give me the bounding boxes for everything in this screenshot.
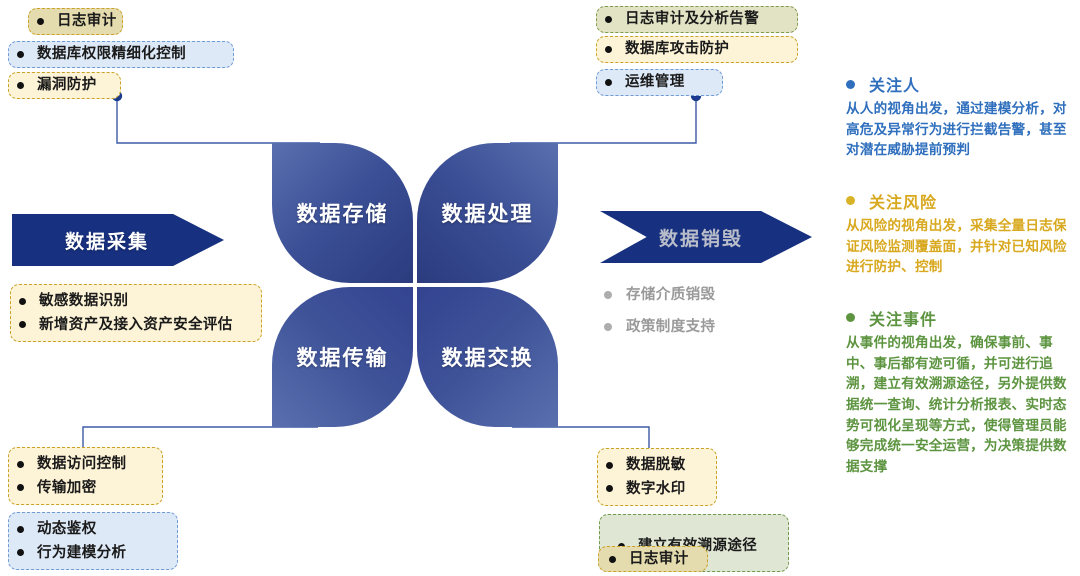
info-block-event: 关注事件 从事件的视角出发，确保事前、事中、事后都有迹可循，并可进行追溯，建立有…	[846, 306, 1072, 478]
callout-top-left-2[interactable]: 数据库权限精细化控制	[8, 41, 234, 68]
bullet-icon	[17, 549, 24, 556]
bullet-icon	[17, 526, 24, 533]
info-header: 关注风险	[846, 189, 1072, 213]
list-item: 日志审计及分析告警	[605, 12, 787, 27]
bullet-icon	[17, 51, 24, 58]
list-item: 数据库攻击防护	[605, 42, 787, 57]
bullet-icon	[37, 18, 44, 25]
petal-label: 数据处理	[442, 198, 534, 228]
bullet-icon	[606, 462, 613, 469]
callout-top-right-3[interactable]: 运维管理	[596, 69, 723, 96]
callout-top-right-1[interactable]: 日志审计及分析告警	[596, 6, 798, 33]
callout-label: 敏感数据识别	[39, 294, 128, 309]
list-item: 漏洞防护	[17, 78, 110, 93]
list-label: 政策制度支持	[626, 320, 715, 335]
bullet-icon	[604, 323, 612, 331]
list-item: 存储介质销毁	[604, 288, 715, 303]
info-header: 关注事件	[846, 306, 1072, 330]
bullet-icon	[605, 79, 612, 86]
bullet-icon	[609, 556, 616, 563]
bullet-icon	[19, 298, 26, 305]
list-item: 日志审计	[37, 14, 112, 29]
bullet-icon	[604, 291, 612, 299]
info-panel: 关注人 从人的视角出发，通过建模分析，对高危及异常行为进行拦截告警，甚至对潜在威…	[846, 72, 1072, 500]
info-block-risk: 关注风险 从风险的视角出发，采集全量日志保证风险监测覆盖面，并针对已知风险进行防…	[846, 189, 1072, 278]
callout-label: 日志审计	[629, 552, 689, 567]
bullet-icon	[605, 46, 612, 53]
callout-label: 运维管理	[625, 75, 685, 90]
connector-top-right	[510, 98, 696, 143]
bullet-icon	[17, 461, 24, 468]
list-item: 数据脱敏	[606, 458, 706, 473]
callout-mid-left[interactable]: 敏感数据识别 新增资产及接入资产安全评估	[10, 284, 262, 342]
list-item: 敏感数据识别	[19, 294, 251, 309]
info-block-person: 关注人 从人的视角出发，通过建模分析，对高危及异常行为进行拦截告警，甚至对潜在威…	[846, 72, 1072, 161]
callout-label: 数据库权限精细化控制	[37, 47, 186, 62]
list-item: 政策制度支持	[604, 320, 715, 335]
list-item: 新增资产及接入资产安全评估	[19, 318, 251, 333]
info-title: 关注事件	[869, 306, 937, 330]
callout-label: 行为建模分析	[37, 546, 126, 561]
petal-data-storage[interactable]: 数据存储	[272, 143, 413, 283]
list-item: 传输加密	[17, 481, 152, 496]
petal-label: 数据传输	[297, 342, 389, 372]
info-body: 从事件的视角出发，确保事前、事中、事后都有迹可循，并可进行追溯，建立有效溯源途径…	[846, 333, 1072, 478]
callout-label: 日志审计	[57, 14, 117, 29]
info-body: 从风险的视角出发，采集全量日志保证风险监测覆盖面，并针对已知风险进行防护、控制	[846, 216, 1072, 278]
arrow-data-destruction[interactable]: 数据销毁	[600, 211, 812, 263]
callout-label: 日志审计及分析告警	[625, 12, 759, 27]
list-item: 动态鉴权	[17, 522, 167, 537]
status-dot-icon	[846, 196, 855, 205]
callout-label: 数据访问控制	[37, 457, 126, 472]
list-item: 日志审计	[609, 552, 707, 567]
diagram-canvas: 日志审计 数据库权限精细化控制 漏洞防护 日志审计及分析告警 数据库攻击防护 运…	[0, 0, 1080, 576]
connector-top-left	[117, 98, 320, 143]
callout-top-left-3[interactable]: 漏洞防护	[8, 72, 121, 99]
petal-data-exchange[interactable]: 数据交换	[417, 287, 558, 427]
status-dot-icon	[846, 313, 855, 322]
center-flower: 数据存储 数据处理 数据传输 数据交换	[272, 143, 558, 427]
callout-bottom-left-1[interactable]: 数据访问控制 传输加密	[8, 447, 163, 505]
list-label: 存储介质销毁	[626, 288, 715, 303]
callout-label: 新增资产及接入资产安全评估	[39, 318, 233, 333]
bullet-icon	[17, 82, 24, 89]
list-item: 运维管理	[605, 75, 712, 90]
callout-label: 动态鉴权	[37, 522, 97, 537]
list-item: 行为建模分析	[17, 546, 167, 561]
list-item: 数据访问控制	[17, 457, 152, 472]
callout-top-right-2[interactable]: 数据库攻击防护	[596, 36, 798, 63]
list-item: 数字水印	[606, 482, 706, 497]
callout-label: 数字水印	[626, 482, 686, 497]
info-title: 关注风险	[869, 189, 937, 213]
callout-label: 传输加密	[37, 481, 97, 496]
arrow-label: 数据采集	[65, 227, 149, 254]
info-header: 关注人	[846, 72, 1072, 96]
petal-label: 数据交换	[442, 342, 534, 372]
arrow-data-collection[interactable]: 数据采集	[12, 214, 224, 266]
info-title: 关注人	[869, 72, 920, 96]
list-data-destruction: 存储介质销毁 政策制度支持	[604, 288, 715, 334]
bullet-icon	[606, 485, 613, 492]
callout-bottom-right-1[interactable]: 数据脱敏 数字水印	[597, 448, 717, 506]
info-body: 从人的视角出发，通过建模分析，对高危及异常行为进行拦截告警，甚至对潜在威胁提前预…	[846, 99, 1072, 161]
bullet-icon	[17, 484, 24, 491]
callout-label: 数据脱敏	[626, 458, 686, 473]
callout-bottom-right-2[interactable]: 建立有效溯源途径 日志审计	[599, 514, 789, 572]
bullet-icon	[605, 16, 612, 23]
petal-label: 数据存储	[297, 198, 389, 228]
callout-nested-log-audit[interactable]: 日志审计	[598, 546, 708, 572]
callout-label: 数据库攻击防护	[625, 42, 729, 57]
petal-data-transmission[interactable]: 数据传输	[272, 287, 413, 427]
arrow-label: 数据销毁	[659, 224, 743, 251]
callout-label: 漏洞防护	[37, 78, 97, 93]
list-item: 数据库权限精细化控制	[17, 47, 223, 62]
petal-data-processing[interactable]: 数据处理	[417, 143, 558, 283]
bullet-icon	[19, 321, 26, 328]
callout-top-left-1[interactable]: 日志审计	[28, 8, 123, 35]
status-dot-icon	[846, 80, 855, 89]
callout-bottom-left-2[interactable]: 动态鉴权 行为建模分析	[8, 512, 178, 570]
